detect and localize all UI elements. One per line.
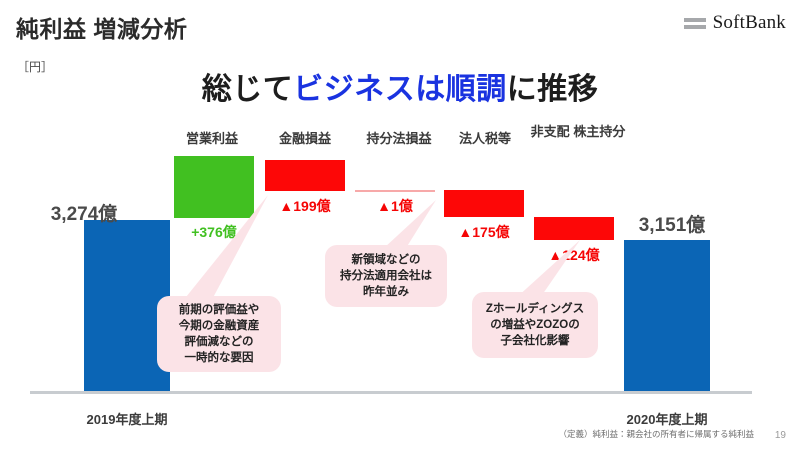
cat-line-2: 株主持分 xyxy=(573,124,625,139)
bar-total-2020 xyxy=(624,240,710,391)
footnote: （定義）純利益：親会社の所有者に帰属する純利益 xyxy=(558,428,754,440)
cat-line-1: 金融損益 xyxy=(279,131,331,146)
bar-income-taxes xyxy=(444,190,524,217)
page-number: 19 xyxy=(775,430,786,441)
callout-line-3: 昨年並み xyxy=(340,284,432,300)
bar-noncontrolling-interests xyxy=(534,217,614,240)
category-label-operating-income: 営業利益 xyxy=(164,131,260,146)
bar-value-equity-method: ▲1億 xyxy=(348,196,442,216)
bar-value-noncontrolling-interests: ▲124億 xyxy=(524,245,624,265)
bar-value-operating-income: +376億 xyxy=(166,222,262,242)
chart-baseline xyxy=(30,391,752,394)
category-label-noncontrolling-interests: 非支配 株主持分 xyxy=(526,124,630,139)
bar-financial-income xyxy=(265,160,345,191)
callout-line-3: 評価減などの xyxy=(179,334,260,350)
bar-value-financial-income: ▲199億 xyxy=(255,196,355,216)
slide: 純利益 増減分析 ［円］ SoftBank 総じてビジネスは順調に推移 営業利益… xyxy=(0,0,800,450)
category-label-income-taxes: 法人税等 xyxy=(437,131,533,146)
callout-line-1: Zホールディングス xyxy=(486,301,584,317)
cat-line-1: 非支配 xyxy=(531,124,570,139)
bar-operating-income xyxy=(174,156,254,218)
bar-value-total-2020: 3,151億 xyxy=(612,210,732,237)
callout-line-2: の増益やZOZOの xyxy=(486,317,584,333)
axis-label-right: 2020年度上期 xyxy=(607,409,727,428)
callout-line-1: 前期の評価益や xyxy=(179,302,260,318)
category-label-financial-income: 金融損益 xyxy=(257,131,353,146)
callout-financial-income: 前期の評価益や 今期の金融資産 評価減などの 一時的な要因 xyxy=(157,296,281,372)
bar-value-income-taxes: ▲175億 xyxy=(434,222,534,242)
waterfall-chart: 営業利益 金融損益 持分法損益 法人税等 非支配 株主持分 3,274億 +37… xyxy=(0,0,800,450)
bar-value-total-2019: 3,274億 xyxy=(24,199,144,226)
callout-line-1: 新領域などの xyxy=(340,252,432,268)
callout-line-4: 一時的な要因 xyxy=(179,350,260,366)
callout-line-2: 今期の金融資産 xyxy=(179,318,260,334)
cat-line-1: 法人税等 xyxy=(459,131,511,146)
callout-noncontrolling-interests: Zホールディングス の増益やZOZOの 子会社化影響 xyxy=(472,292,598,358)
cat-line-1: 持分法損益 xyxy=(366,131,431,146)
bar-equity-method xyxy=(355,190,435,192)
axis-label-left: 2019年度上期 xyxy=(67,409,187,428)
callout-equity-method: 新領域などの 持分法適用会社は 昨年並み xyxy=(325,245,447,307)
callout-line-2: 持分法適用会社は xyxy=(340,268,432,284)
callout-line-3: 子会社化影響 xyxy=(486,333,584,349)
cat-line-1: 営業利益 xyxy=(186,131,238,146)
